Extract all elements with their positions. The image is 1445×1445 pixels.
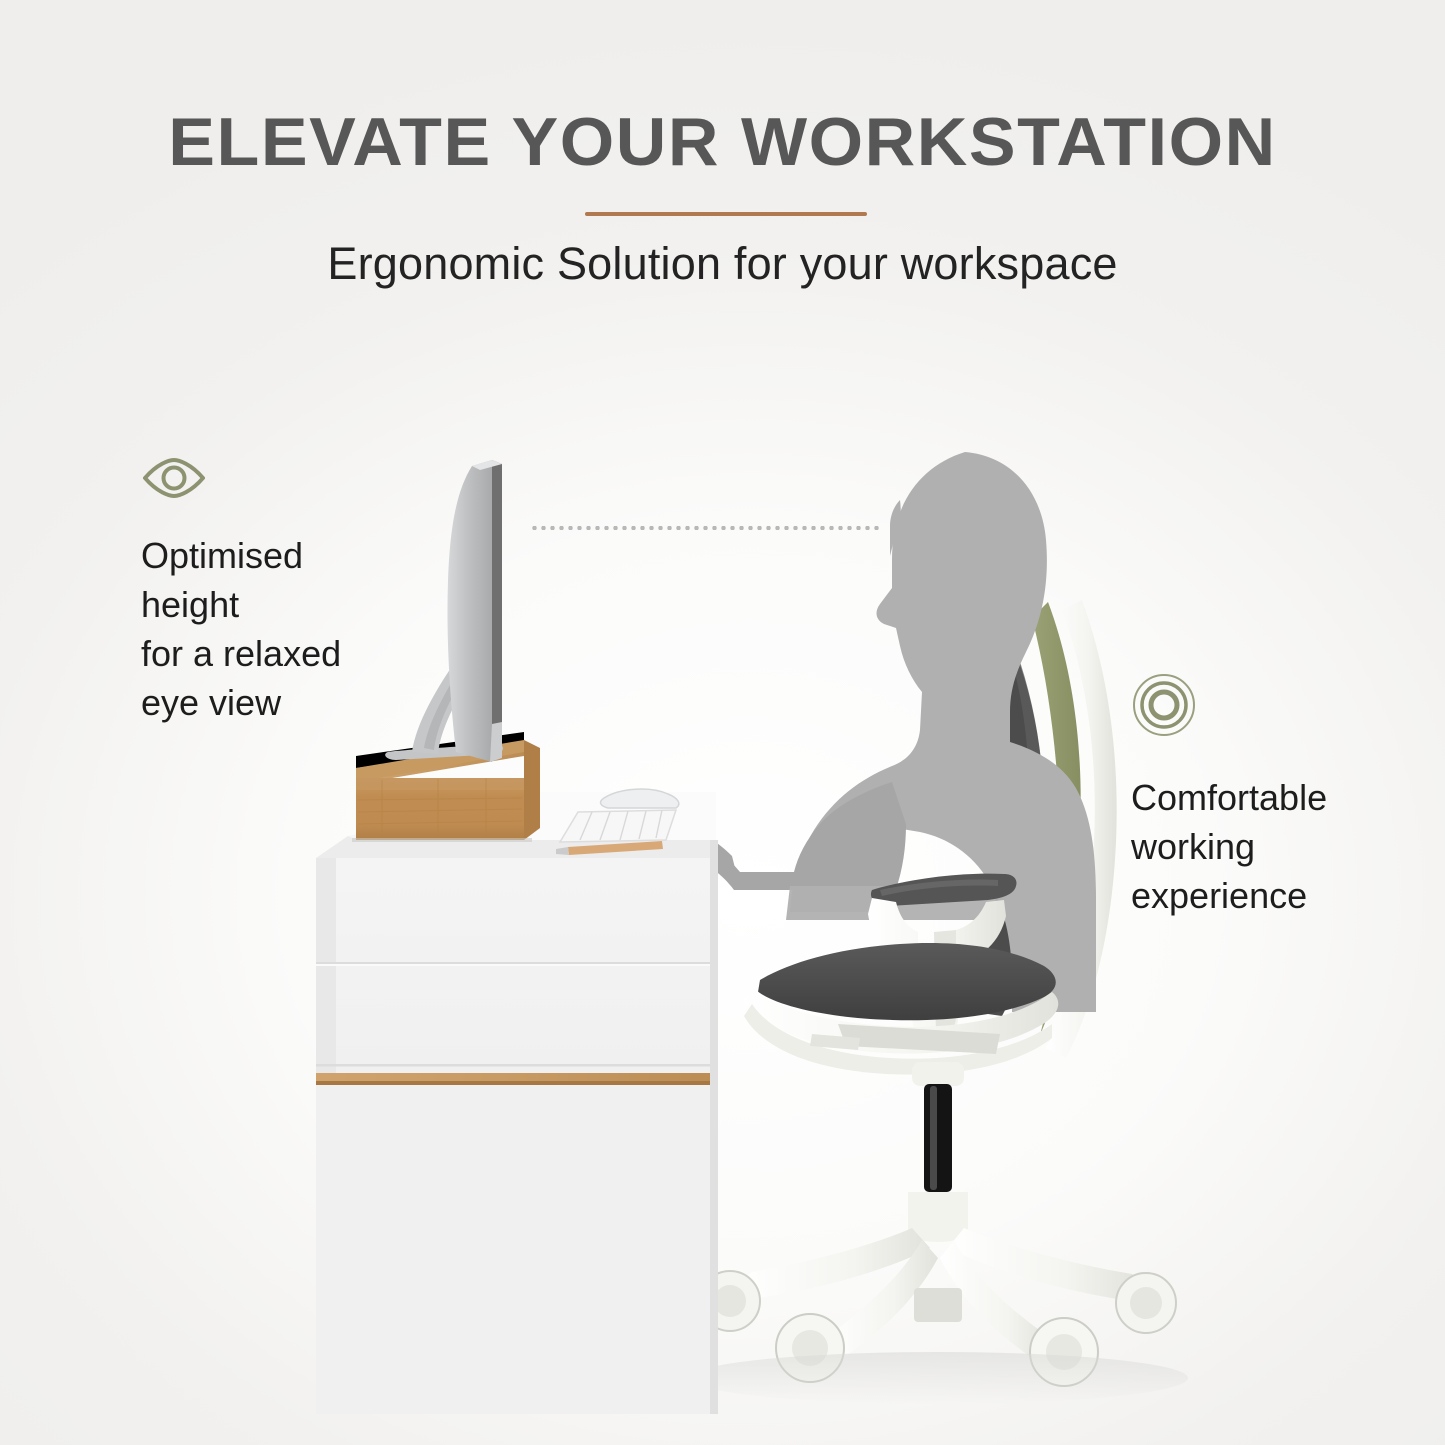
monitor-screen-edge [492,460,502,730]
chair-gas-cylinder-shine [930,1086,937,1190]
silhouette-head-torso [790,452,1096,1012]
chair-base-center-cap [914,1288,962,1322]
concentric-circles-icon [1131,672,1327,743]
chair-gas-cylinder-collar [912,1062,964,1086]
infographic-canvas: ELEVATE YOUR WORKSTATION Ergonomic Solut… [0,0,1445,1445]
riser-end-grain-band [356,778,524,790]
dotted-eye-level-line [530,526,882,530]
cabinet-drawer-seam-3 [316,1064,716,1067]
callout-optimised-height-text: Optimised height for a relaxed eye view [141,531,341,727]
riser-right-wing [524,740,540,840]
cabinet-wood-accent-shade [316,1081,716,1085]
callout-comfortable-working: Comfortable working experience [1131,672,1327,920]
callout-comfortable-working-text: Comfortable working experience [1131,773,1327,920]
riser-contact-shadow [352,838,532,842]
chair-gas-cylinder [924,1084,952,1192]
cabinet-drawer-seam-2 [316,964,716,966]
desk-cabinet [316,792,718,1414]
office-chair [688,874,1188,1404]
cabinet-bottom-panel [316,1085,716,1414]
eye-icon [141,458,341,503]
monitor-chin [490,722,502,762]
mouse [601,789,679,808]
chair-seat-cushion [758,943,1056,1020]
chair-floor-shadow [688,1352,1188,1404]
cabinet-right-edge [710,840,718,1414]
monitor [385,460,503,762]
callout-optimised-height: Optimised height for a relaxed eye view [141,458,341,727]
monitor-back-shell [447,460,492,762]
